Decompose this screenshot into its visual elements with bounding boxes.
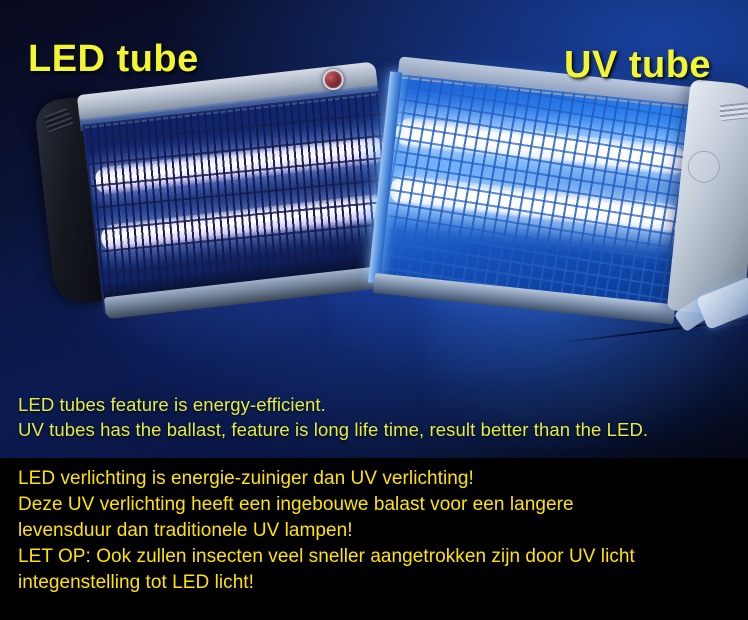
- uv-vent-slits-icon: [719, 102, 748, 121]
- english-caption-line-1: LED tubes feature is energy-efficient.: [18, 392, 734, 417]
- dutch-caption-line-3: levensduur dan traditionele UV lampen!: [0, 518, 748, 544]
- dutch-caption-line-5: integenstelling tot LED licht!: [0, 570, 748, 596]
- title-uv-tube: UV tube: [564, 44, 711, 87]
- dutch-caption-line-1: LED verlichting is energie-zuiniger dan …: [0, 466, 748, 492]
- spacer: [0, 458, 748, 466]
- vent-slits-icon: [43, 108, 74, 134]
- english-caption: LED tubes feature is energy-efficient. U…: [18, 392, 734, 442]
- dutch-caption-line-4: LET OP: Ook zullen insecten veel sneller…: [0, 544, 748, 570]
- dutch-caption-bar: LED verlichting is energie-zuiniger dan …: [0, 458, 748, 620]
- image-root: LED tube UV tube LED tubes feature is en…: [0, 0, 748, 620]
- product-photo: LED tube UV tube LED tubes feature is en…: [0, 0, 748, 458]
- english-caption-line-2: UV tubes has the ballast, feature is lon…: [18, 417, 734, 442]
- dutch-caption-line-2: Deze UV verlichting heeft een ingebouwe …: [0, 492, 748, 518]
- title-led-tube: LED tube: [28, 38, 199, 81]
